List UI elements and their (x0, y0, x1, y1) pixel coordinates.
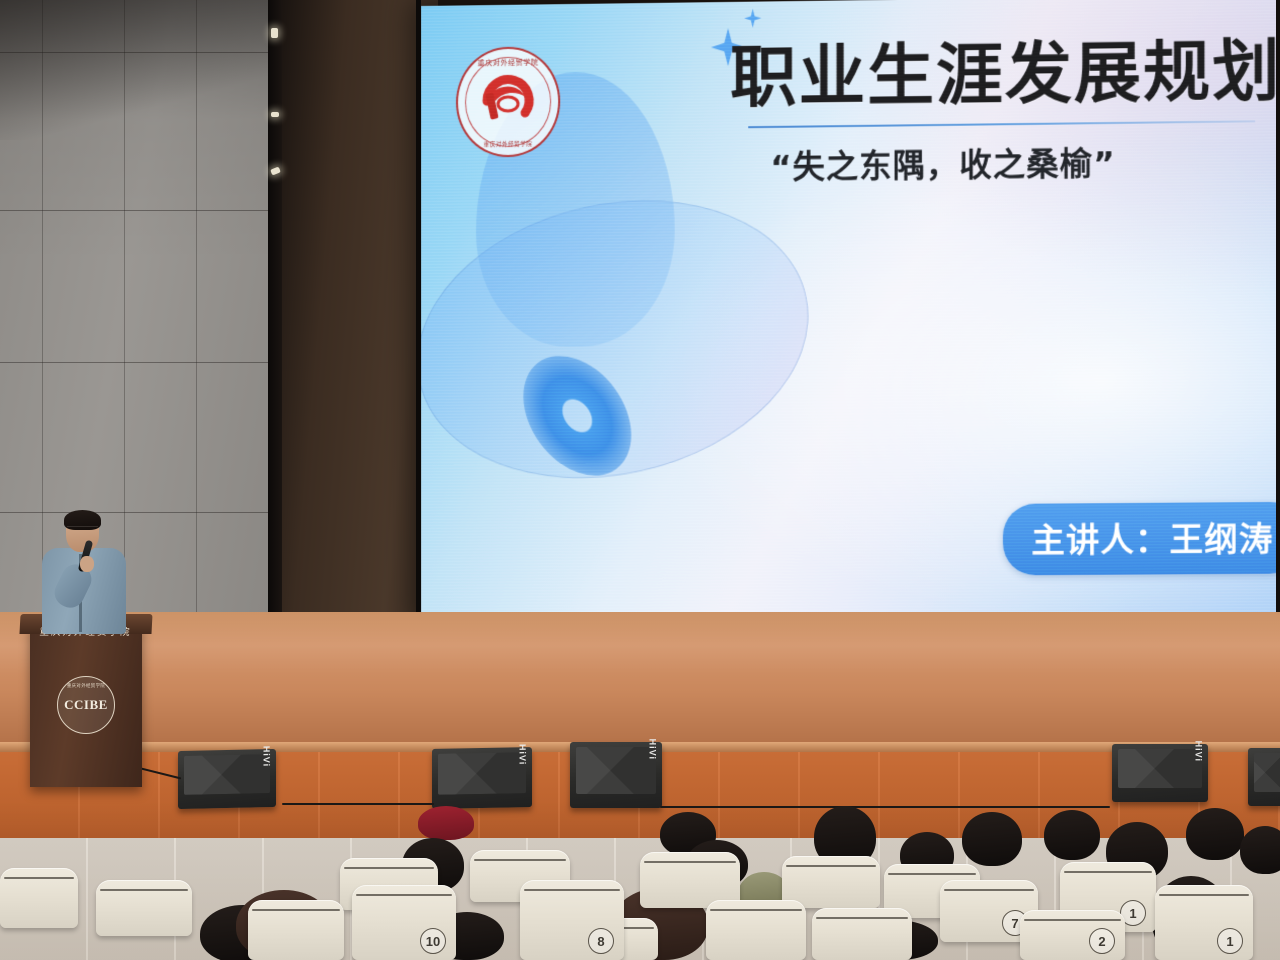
wall-edge-trim (268, 0, 282, 660)
slide-headline-block: 职业生涯发展规划 “失之东隅，收之桑榆” (730, 37, 1280, 189)
stage-monitor-center: HiVi (570, 742, 662, 808)
monitor-brand-label: HiVi (647, 739, 657, 760)
audience-head-with-cap (418, 806, 474, 840)
screen-right-crop (1276, 0, 1280, 660)
slide-title: 职业生涯发展规划 (730, 37, 1280, 112)
auditorium-seat-numbered[interactable]: 2 (1020, 910, 1125, 960)
auditorium-seat-numbered[interactable]: 1 (1155, 885, 1253, 960)
auditorium-seat[interactable] (812, 908, 912, 960)
stage-floor-sheen (0, 612, 1280, 742)
monitor-brand-label: HiVi (517, 744, 527, 766)
podium-logo: 重庆对外经贸学院 CCIBE (57, 676, 115, 734)
seal-top-text: 重庆对外经贸学院 (456, 57, 560, 68)
seal-mark-icon (477, 71, 539, 132)
seat-number: 2 (1089, 928, 1115, 954)
podium-logo-text: CCIBE (64, 697, 108, 713)
monitor-brand-label: HiVi (1193, 741, 1203, 762)
slide-subtitle: “失之东隅，收之桑榆” (770, 136, 1280, 188)
speaker-name-badge: 主讲人：王纲涛 (1003, 502, 1280, 576)
audience-head (1240, 826, 1280, 874)
auditorium-seat[interactable] (96, 880, 192, 936)
audience-head (1186, 808, 1244, 860)
presenter-figure (38, 512, 134, 630)
stage-monitor-right: HiVi (1112, 744, 1208, 802)
auditorium-seat[interactable] (0, 868, 78, 928)
podium-logo-arc-text: 重庆对外经贸学院 (58, 683, 114, 689)
auditorium-scene: 重庆对外经贸学院 重庆对外经贸学院 职业生涯发展规划 “失之东隅，收之桑榆” 主… (0, 0, 1280, 960)
title-divider (748, 120, 1255, 128)
monitor-brand-label: HiVi (261, 746, 271, 768)
university-seal-logo: 重庆对外经贸学院 重庆对外经贸学院 (456, 46, 560, 157)
stage-monitor-far-right (1248, 748, 1280, 806)
presenter-hand (80, 556, 94, 572)
seat-number: 8 (588, 928, 614, 954)
seat-number: 10 (420, 928, 446, 954)
audio-cable (282, 803, 434, 805)
wall-shadow (0, 0, 272, 140)
auditorium-seat-numbered[interactable]: 8 (520, 880, 624, 960)
audience-head (1044, 810, 1100, 860)
auditorium-seat[interactable] (706, 900, 806, 960)
glasses-icon (67, 526, 98, 533)
audio-cable (660, 806, 1110, 808)
audience-head (962, 812, 1022, 866)
ceiling-spotlight (271, 28, 278, 38)
stage-side-wall (268, 0, 438, 660)
auditorium-seat-numbered[interactable]: 10 (352, 885, 456, 960)
seal-bottom-text: 重庆对外经贸学院 (456, 139, 560, 148)
stage-monitor-left: HiVi (178, 749, 276, 809)
auditorium-seat[interactable] (248, 900, 344, 960)
stage-monitor-center-left: HiVi (432, 747, 532, 809)
seat-number: 1 (1217, 928, 1243, 954)
ceiling-spotlight (271, 112, 279, 117)
podium: 重庆对外经贸学院 CCIBE (30, 622, 142, 787)
projection-screen[interactable]: 重庆对外经贸学院 重庆对外经贸学院 职业生涯发展规划 “失之东隅，收之桑榆” 主… (421, 0, 1280, 620)
sparkle-star-small-icon (744, 9, 761, 28)
